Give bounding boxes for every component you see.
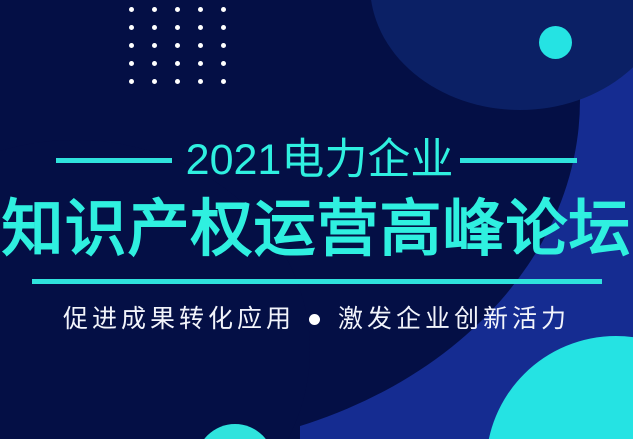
headline-rule-right bbox=[460, 158, 577, 163]
subtitle-row: 促进成果转化应用 激发企业创新活力 bbox=[0, 303, 633, 335]
event-poster: 2021电力企业 知识产权运营高峰论坛 促进成果转化应用 激发企业创新活力 bbox=[0, 0, 633, 439]
headline-line-2: 知识产权运营高峰论坛 bbox=[0, 194, 633, 266]
bullet-separator-icon bbox=[309, 314, 320, 325]
poster-content: 2021电力企业 知识产权运营高峰论坛 促进成果转化应用 激发企业创新活力 bbox=[0, 0, 633, 439]
headline-divider-rule bbox=[32, 279, 602, 284]
subtitle-right-text: 激发企业创新活力 bbox=[338, 303, 570, 335]
subtitle-left-text: 促进成果转化应用 bbox=[63, 303, 295, 335]
headline-line-1: 2021电力企业 bbox=[186, 136, 454, 184]
headline-rule-left bbox=[56, 158, 172, 163]
headline-primary-row: 2021电力企业 bbox=[0, 136, 633, 184]
